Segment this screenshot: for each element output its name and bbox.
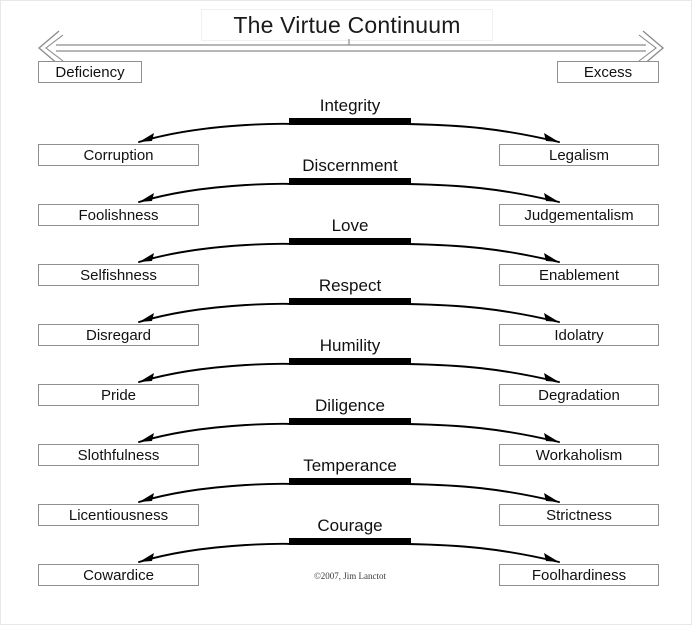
- virtue-label: Discernment: [250, 156, 450, 176]
- virtue-arc: [139, 184, 559, 202]
- deficiency-label: Corruption: [83, 147, 153, 164]
- virtue-arc: [139, 544, 559, 562]
- page-title: The Virtue Continuum: [233, 12, 460, 39]
- deficiency-label: Pride: [101, 387, 136, 404]
- excess-label: Legalism: [549, 147, 609, 164]
- arc-arrowhead-left-icon: [139, 193, 154, 202]
- virtue-label: Diligence: [250, 396, 450, 416]
- excess-box: Degradation: [499, 384, 659, 406]
- virtue-bar: [289, 478, 411, 485]
- arc-arrowhead-right-icon: [544, 373, 559, 382]
- virtue-arc: [139, 364, 559, 382]
- deficiency-box: Selfishness: [38, 264, 199, 286]
- excess-label: Degradation: [538, 387, 620, 404]
- deficiency-box: Foolishness: [38, 204, 199, 226]
- excess-box: Idolatry: [499, 324, 659, 346]
- axis-end-label-excess-text: Excess: [584, 64, 632, 81]
- virtue-label: Love: [250, 216, 450, 236]
- virtue-label: Courage: [250, 516, 450, 536]
- axis-end-label-deficiency: Deficiency: [38, 61, 142, 83]
- virtue-label: Integrity: [250, 96, 450, 116]
- arc-arrowhead-left-icon: [139, 133, 154, 142]
- deficiency-label: Slothfulness: [78, 447, 160, 464]
- virtue-arc: [139, 424, 559, 442]
- excess-label: Foolhardiness: [532, 567, 626, 584]
- virtue-label: Respect: [250, 276, 450, 296]
- excess-box: Judgementalism: [499, 204, 659, 226]
- arc-arrowhead-left-icon: [139, 313, 154, 322]
- arc-arrowhead-right-icon: [544, 133, 559, 142]
- virtue-arc: [139, 484, 559, 502]
- deficiency-label: Disregard: [86, 327, 151, 344]
- excess-box: Foolhardiness: [499, 564, 659, 586]
- arc-arrowhead-right-icon: [544, 313, 559, 322]
- axis-end-label-deficiency-text: Deficiency: [55, 64, 124, 81]
- excess-label: Enablement: [539, 267, 619, 284]
- virtue-bar: [289, 298, 411, 305]
- virtue-arc: [139, 244, 559, 262]
- virtue-bar: [289, 118, 411, 125]
- excess-box: Strictness: [499, 504, 659, 526]
- excess-label: Strictness: [546, 507, 612, 524]
- deficiency-box: Disregard: [38, 324, 199, 346]
- arc-arrowhead-right-icon: [544, 253, 559, 262]
- excess-label: Judgementalism: [524, 207, 633, 224]
- virtue-label: Humility: [250, 336, 450, 356]
- virtue-arc: [139, 124, 559, 142]
- excess-box: Legalism: [499, 144, 659, 166]
- left-arrow-icon: [39, 31, 59, 65]
- deficiency-box: Pride: [38, 384, 199, 406]
- arc-arrowhead-right-icon: [544, 493, 559, 502]
- deficiency-label: Cowardice: [83, 567, 154, 584]
- arc-arrowhead-left-icon: [139, 553, 154, 562]
- virtue-bar: [289, 238, 411, 245]
- arc-arrowhead-left-icon: [139, 373, 154, 382]
- deficiency-box: Slothfulness: [38, 444, 199, 466]
- virtue-bar: [289, 178, 411, 185]
- arc-arrowhead-right-icon: [544, 553, 559, 562]
- virtue-arc: [139, 304, 559, 322]
- virtue-label: Temperance: [250, 456, 450, 476]
- excess-label: Workaholism: [536, 447, 622, 464]
- arc-arrowhead-left-icon: [139, 433, 154, 442]
- copyright-notice: ©2007, Jim Lanctot: [250, 571, 450, 581]
- deficiency-label: Licentiousness: [69, 507, 168, 524]
- arc-arrowhead-left-icon: [139, 493, 154, 502]
- virtue-continuum-diagram: The Virtue Continuum Deficiency Excess I…: [0, 0, 692, 625]
- diagram-title-box: The Virtue Continuum: [201, 9, 493, 41]
- excess-box: Workaholism: [499, 444, 659, 466]
- deficiency-label: Selfishness: [80, 267, 157, 284]
- left-arrow-inner-icon: [46, 35, 63, 61]
- arc-arrowhead-right-icon: [544, 433, 559, 442]
- right-arrow-inner-icon: [639, 35, 656, 61]
- right-arrow-icon: [643, 31, 663, 65]
- arc-arrowhead-left-icon: [139, 253, 154, 262]
- deficiency-box: Cowardice: [38, 564, 199, 586]
- excess-label: Idolatry: [554, 327, 603, 344]
- virtue-bar: [289, 418, 411, 425]
- excess-box: Enablement: [499, 264, 659, 286]
- deficiency-box: Corruption: [38, 144, 199, 166]
- virtue-bar: [289, 358, 411, 365]
- virtue-bar: [289, 538, 411, 545]
- deficiency-label: Foolishness: [78, 207, 158, 224]
- deficiency-box: Licentiousness: [38, 504, 199, 526]
- axis-end-label-excess: Excess: [557, 61, 659, 83]
- arc-arrowhead-right-icon: [544, 193, 559, 202]
